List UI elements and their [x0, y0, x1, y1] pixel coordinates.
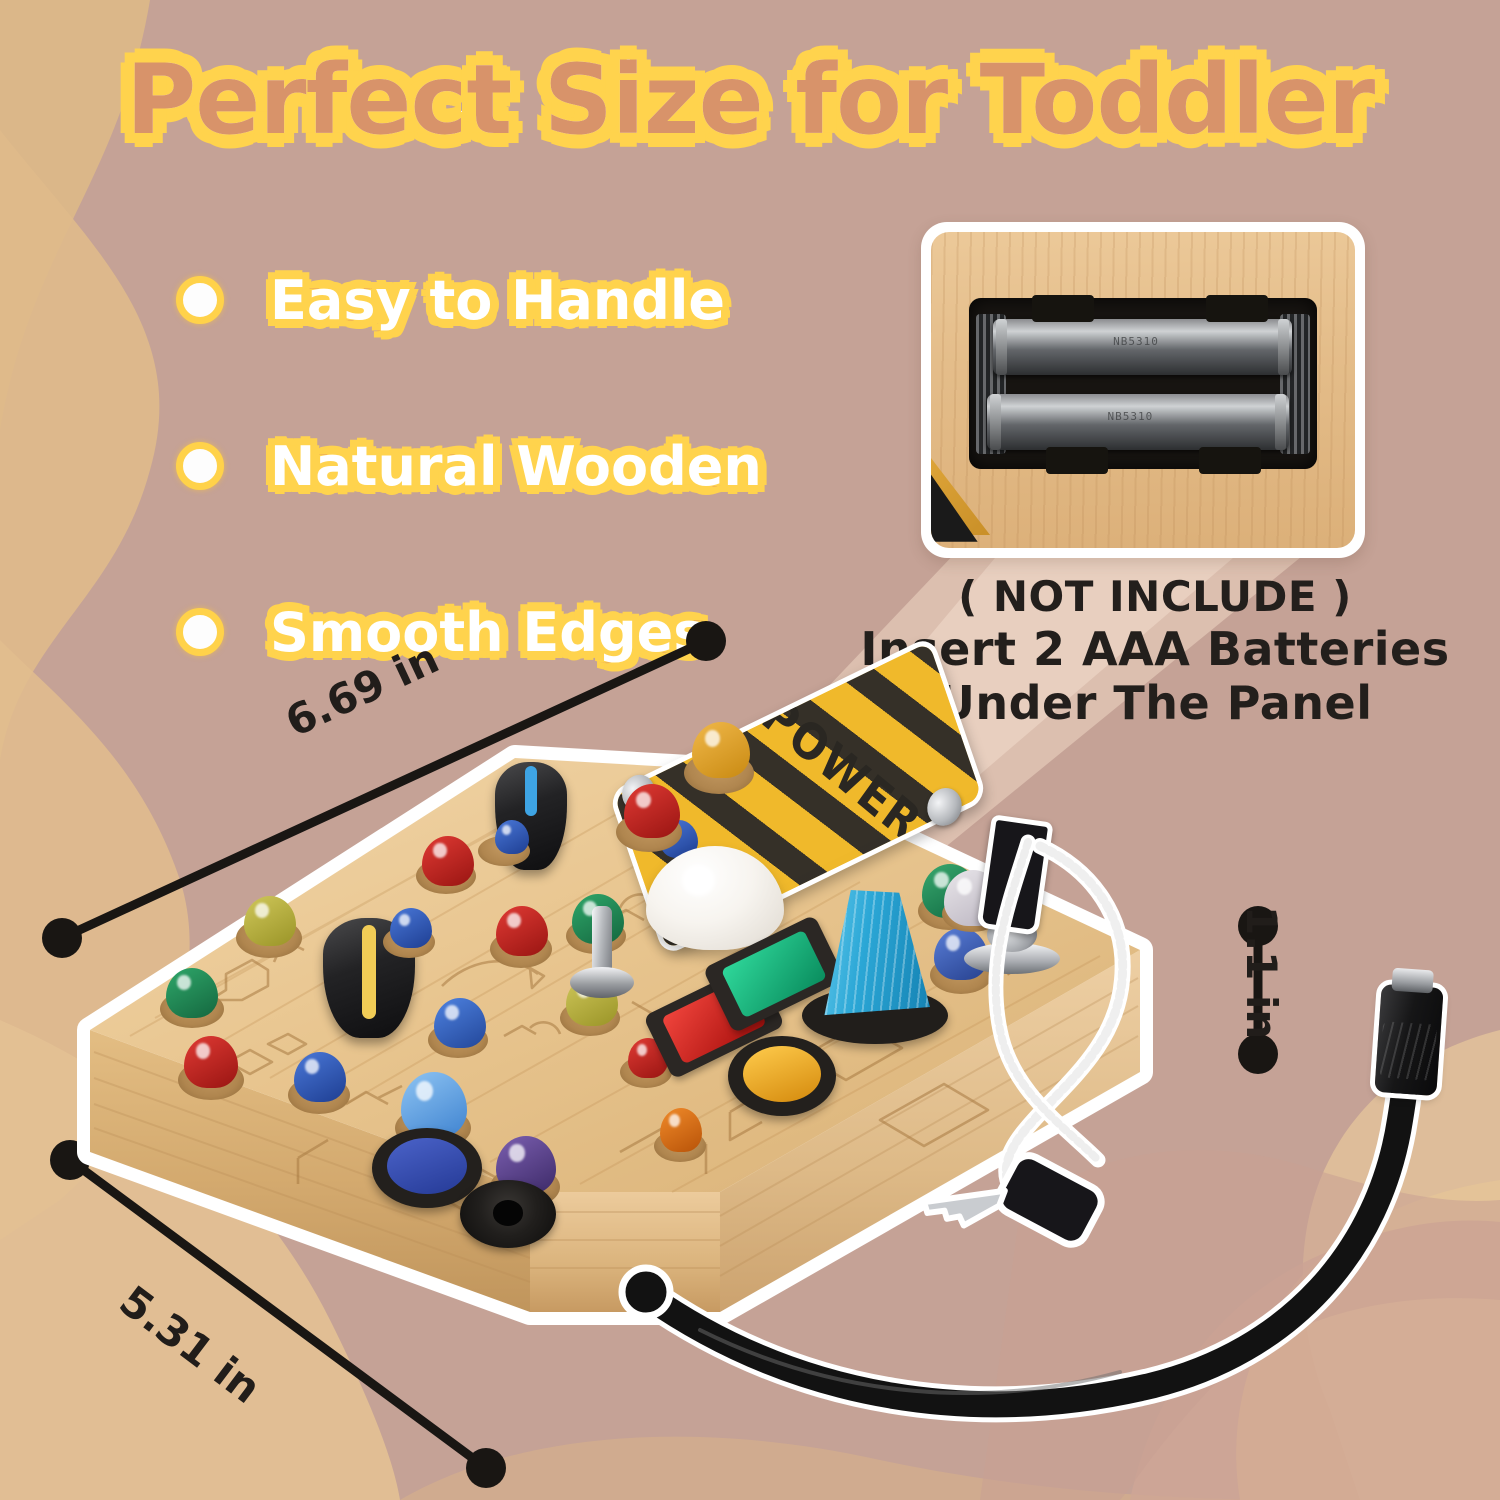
- led-olive[interactable]: [244, 896, 296, 946]
- led-green[interactable]: [166, 968, 218, 1018]
- led-red[interactable]: [184, 1036, 238, 1088]
- plug-tip: [1391, 967, 1433, 994]
- led-blue[interactable]: [294, 1052, 346, 1102]
- beacon-light-blue[interactable]: [820, 890, 930, 1026]
- plug-grooves: [1379, 1021, 1437, 1081]
- led-blue-small[interactable]: [390, 908, 432, 948]
- speaker-grille: [460, 1180, 556, 1248]
- led-red-3[interactable]: [496, 906, 548, 956]
- round-button-orange[interactable]: [728, 1036, 836, 1116]
- infographic-canvas: Perfect Size for Toddler Easy to Handle …: [0, 0, 1500, 1500]
- toggle-lever: [592, 906, 611, 974]
- dc-barrel-plug: [1374, 984, 1443, 1096]
- led-red-2[interactable]: [422, 836, 474, 886]
- toggle-switch[interactable]: [570, 906, 634, 998]
- button-cap-orange: [743, 1046, 821, 1102]
- toggle-nut: [570, 967, 634, 998]
- button-cap-blue: [387, 1138, 466, 1194]
- led-red-big[interactable]: [624, 784, 680, 838]
- led-blue-2[interactable]: [434, 998, 486, 1048]
- led-blue-tiny[interactable]: [495, 820, 529, 854]
- led-amber[interactable]: [692, 722, 750, 778]
- beacon-ribs: [820, 890, 930, 1026]
- led-orange[interactable]: [660, 1108, 702, 1152]
- product-image: ON OFF POWER: [60, 700, 1180, 1480]
- dimension-height-label: 1.1 in: [1237, 906, 1286, 1039]
